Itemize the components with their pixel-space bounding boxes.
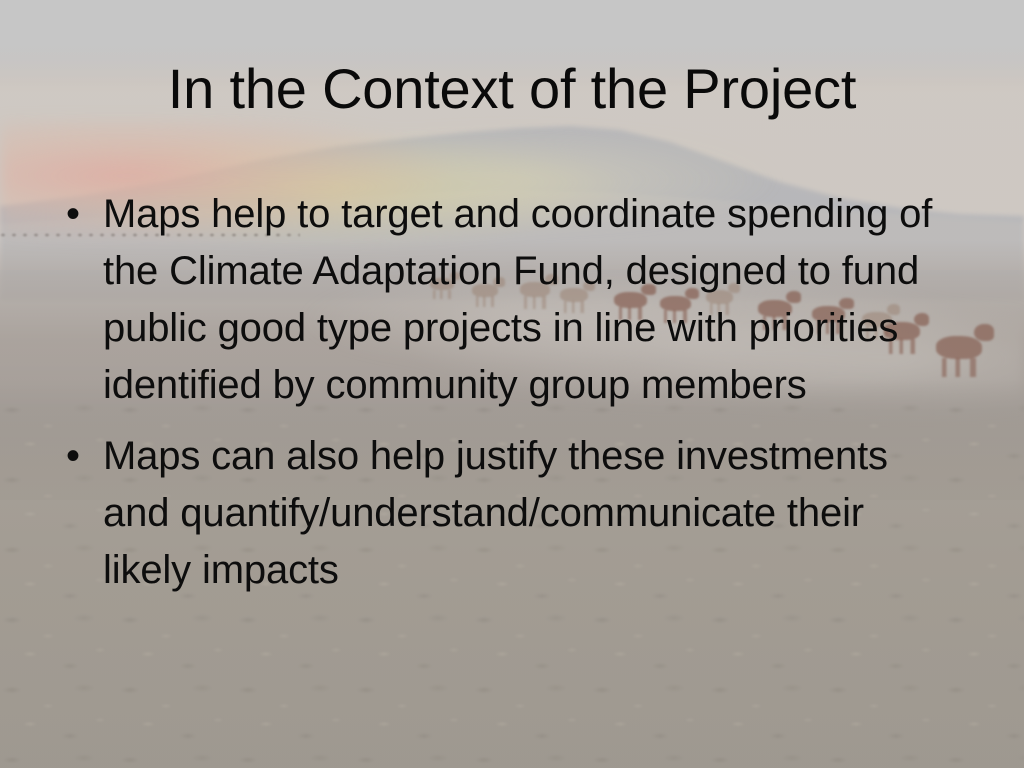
bullet-point-icon: • — [66, 428, 80, 485]
bullet-text: Maps can also help justify these investm… — [103, 434, 888, 592]
bullet-list-item: • Maps can also help justify these inves… — [58, 428, 958, 599]
bullet-list-item: • Maps help to target and coordinate spe… — [58, 186, 958, 414]
slide-title: In the Context of the Project — [0, 57, 1024, 121]
presentation-slide: In the Context of the Project • Maps hel… — [0, 0, 1024, 768]
slide-body: • Maps help to target and coordinate spe… — [58, 186, 958, 599]
bullet-point-icon: • — [66, 186, 80, 243]
bullet-text: Maps help to target and coordinate spend… — [103, 192, 932, 407]
